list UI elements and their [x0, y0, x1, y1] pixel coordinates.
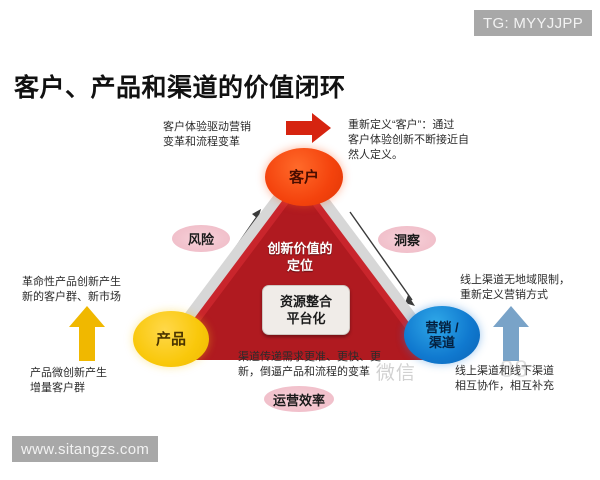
- arrow-up-blue-icon: [492, 306, 530, 362]
- pill-efficiency: 运营效率: [264, 386, 334, 412]
- center-headline-line1: 创新价值的: [240, 240, 360, 257]
- pill-risk: 风险: [172, 225, 230, 252]
- center-box-line1: 资源整合: [267, 293, 345, 310]
- pill-insight: 洞察: [378, 226, 436, 253]
- annotation-left-upper-line1: 革命性产品创新产生: [22, 275, 121, 290]
- watermark-wechat-text: 微信: [376, 363, 416, 384]
- annotation-right-upper: 线上渠道无地域限制， 重新定义营销方式: [460, 273, 570, 303]
- annotation-top-right-line3: 然人定义。: [348, 148, 469, 163]
- node-customer[interactable]: 客户: [265, 148, 343, 206]
- watermark-wechat: ◠ 微信: [352, 358, 416, 385]
- center-headline: 创新价值的 定位: [240, 240, 360, 274]
- node-channel-label: 营销 / 渠道: [425, 320, 458, 350]
- node-channel[interactable]: 营销 / 渠道: [404, 306, 480, 364]
- arrow-up-gold-icon: [68, 306, 106, 362]
- pill-insight-label: 洞察: [394, 230, 420, 249]
- pill-risk-label: 风险: [188, 229, 214, 248]
- annotation-top-right-line2: 客户体验创新不断接近自: [348, 133, 469, 148]
- annotation-right-upper-line1: 线上渠道无地域限制，: [460, 273, 570, 288]
- annotation-left-upper-line2: 新的客户群、新市场: [22, 290, 121, 305]
- center-value-box: 资源整合 平台化: [262, 285, 350, 335]
- watermark-telegram: TG: MYYJJPP: [474, 10, 592, 36]
- annotation-top-left-line2: 变革和流程变革: [163, 135, 251, 150]
- node-product[interactable]: 产品: [133, 311, 209, 367]
- watermark-wechat-icon: ◠: [352, 363, 370, 384]
- annotation-top-right: 重新定义“客户”：通过 客户体验创新不断接近自 然人定义。: [348, 118, 469, 163]
- annotation-top-left-line1: 客户体验驱动营销: [163, 120, 251, 135]
- annotation-left-lower-line1: 产品微创新产生: [30, 366, 107, 381]
- annotation-left-upper: 革命性产品创新产生 新的客户群、新市场: [22, 275, 121, 305]
- watermark-url: www.sitangzs.com: [12, 436, 158, 462]
- annotation-top-right-line1: 重新定义“客户”：通过: [348, 118, 469, 133]
- node-channel-label-line2: 渠道: [425, 335, 458, 350]
- node-channel-label-line1: 营销 /: [425, 320, 458, 335]
- center-headline-line2: 定位: [240, 257, 360, 274]
- annotation-left-lower: 产品微创新产生 增量客户群: [30, 366, 107, 396]
- center-box-line2: 平台化: [267, 310, 345, 327]
- page-title: 客户、产品和渠道的价值闭环: [14, 68, 346, 104]
- arrow-right-red-icon: [286, 112, 332, 144]
- annotation-right-upper-line2: 重新定义营销方式: [460, 288, 570, 303]
- diagram-canvas: 创新价值的 定位 资源整合 平台化 客户 产品 营销 / 渠道 风险 洞察 运营…: [0, 0, 600, 480]
- node-product-label: 产品: [156, 332, 186, 347]
- annotation-top-left: 客户体验驱动营销 变革和流程变革: [163, 120, 251, 150]
- node-customer-label: 客户: [289, 170, 319, 185]
- watermark-number: 88: [500, 356, 529, 384]
- pill-efficiency-label: 运营效率: [273, 390, 325, 409]
- annotation-left-lower-line2: 增量客户群: [30, 381, 107, 396]
